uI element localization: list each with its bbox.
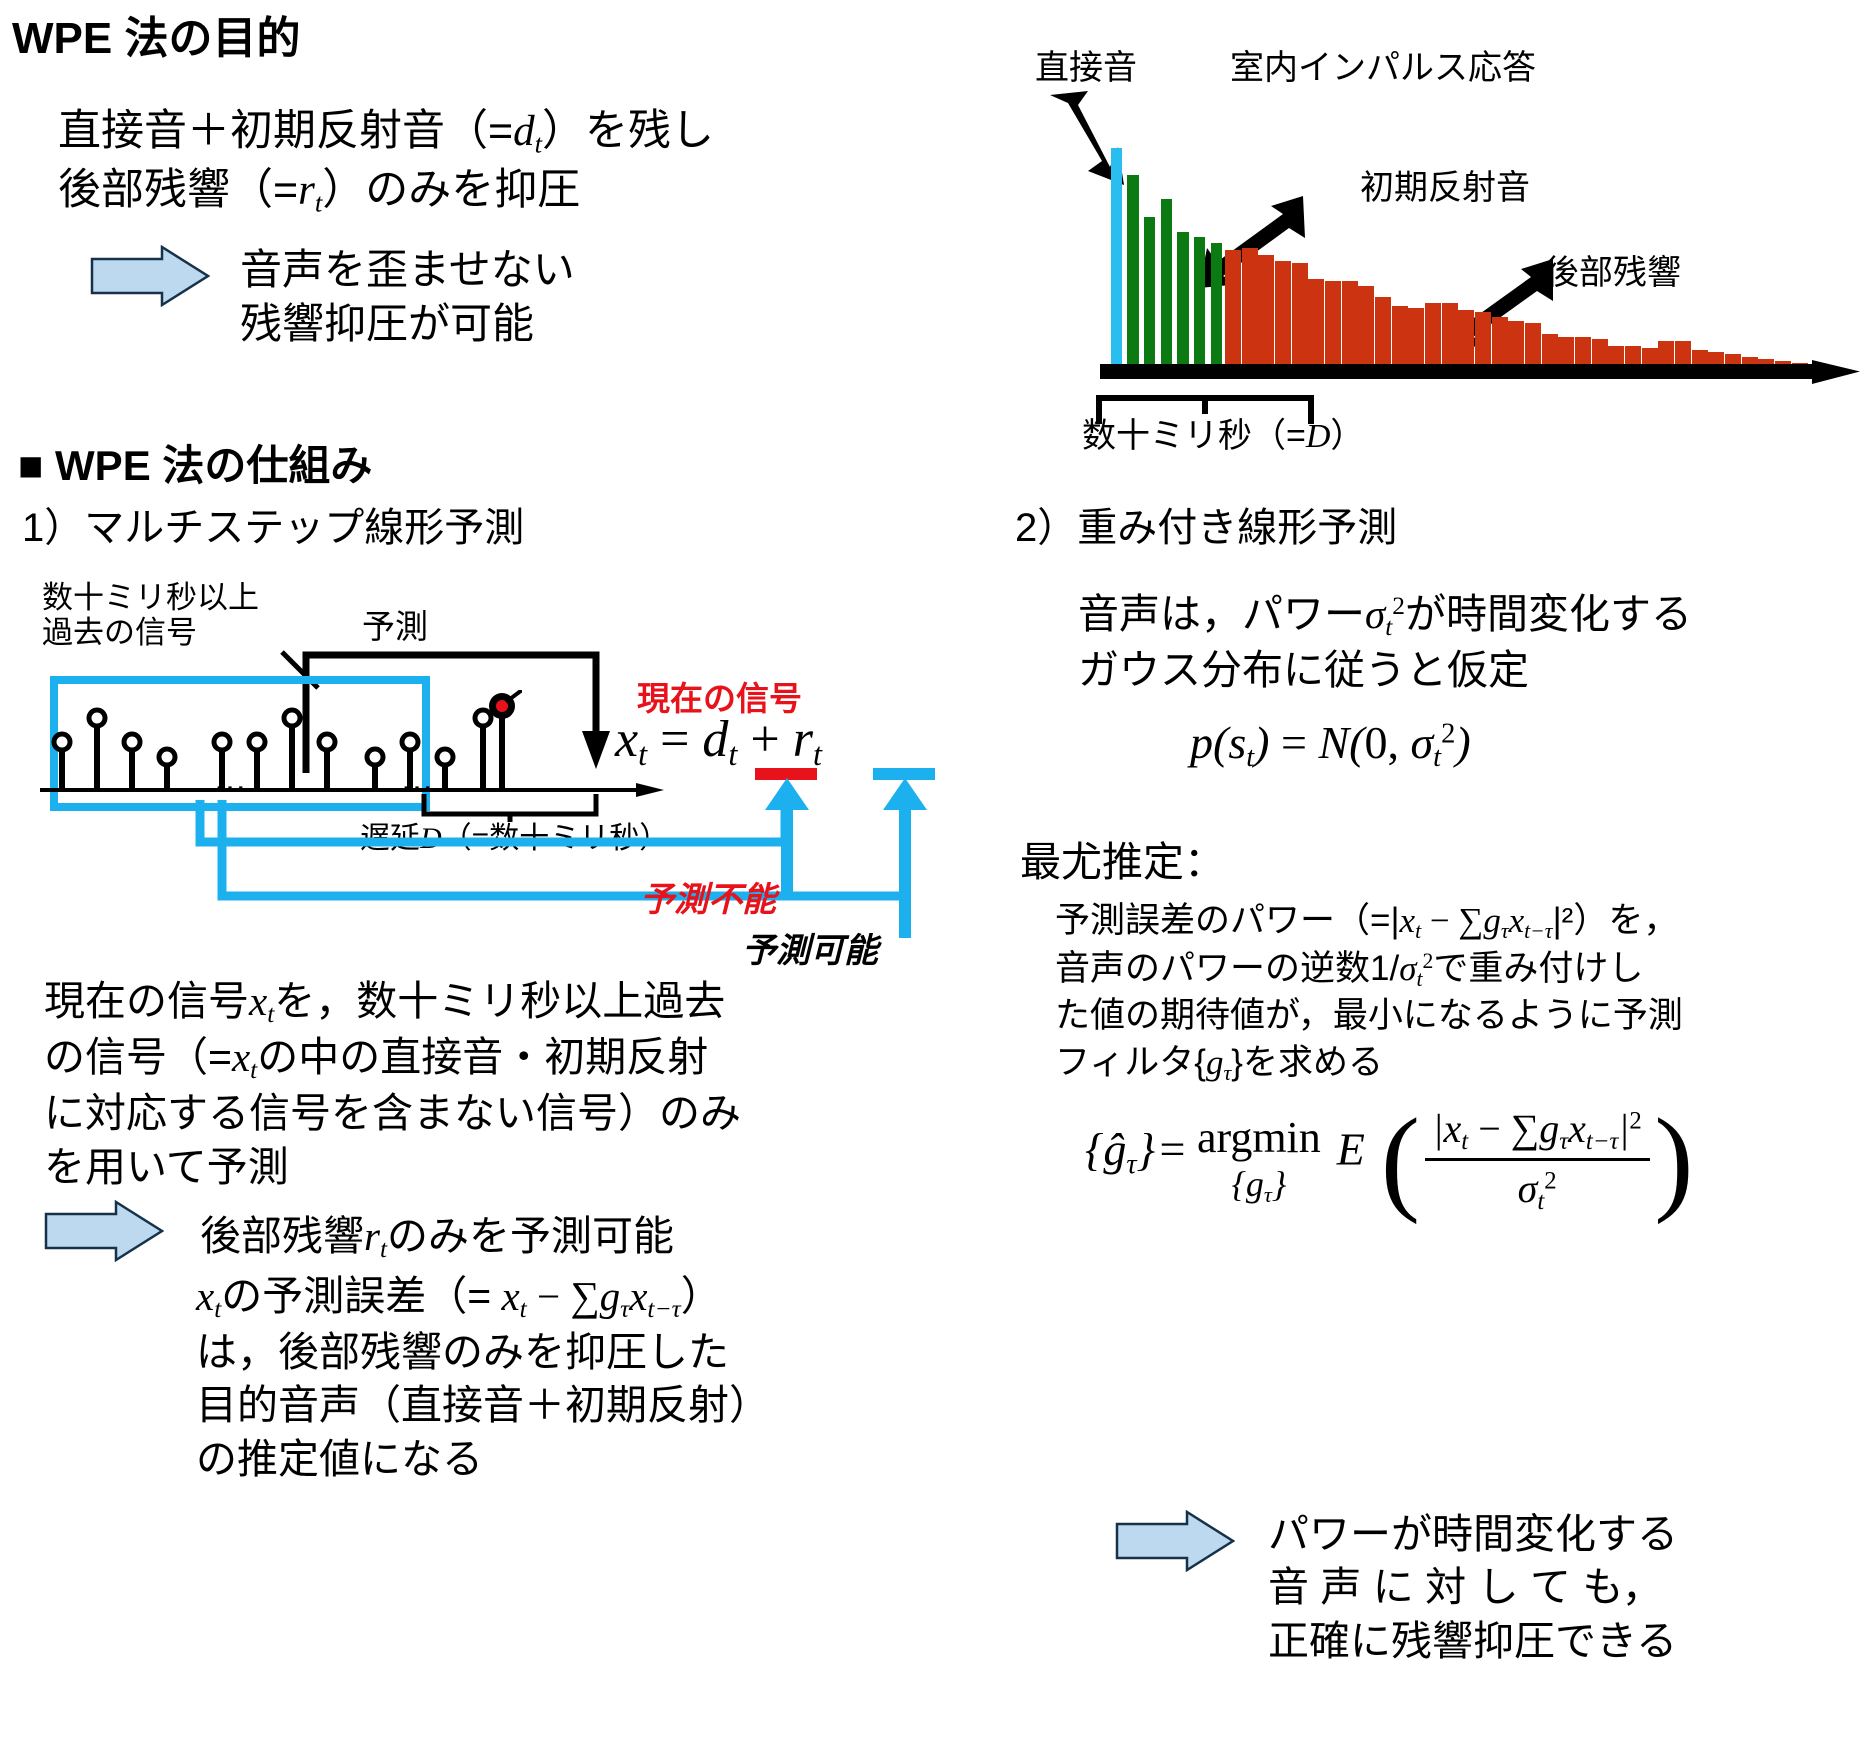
page-title: WPE 法の目的	[12, 2, 300, 66]
stem-head	[402, 734, 418, 750]
stem-label-predictable: 予測可能	[742, 923, 878, 972]
mechanism-heading: ■ WPE 法の仕組み	[18, 432, 372, 493]
purpose-line-2: 後部残響（=rt）のみを抑圧	[58, 155, 580, 218]
label-D-post: ）	[1330, 417, 1364, 455]
purpose-result: 音声を歪ませない 残響抑圧が可能	[240, 243, 575, 351]
impulse-bar	[1144, 217, 1156, 370]
right-para2-line2: 音声のパワーの逆数1/σt2で重み付けし	[1055, 946, 1865, 994]
stem-head	[284, 710, 300, 726]
purpose-line2-post: ）のみを抑圧	[322, 166, 580, 214]
label-D-var: D	[1306, 418, 1331, 455]
step1-heading: 1）マルチステップ線形予測	[22, 495, 524, 553]
purpose-line2-pre: 後部残響（=	[58, 166, 298, 214]
right-arrow-icon-2	[44, 1200, 164, 1262]
impulse-bar	[1275, 261, 1291, 370]
argmin-operator: argmin {gτ}	[1197, 1112, 1321, 1208]
stem-head	[214, 734, 230, 750]
stem-head	[249, 734, 265, 750]
purpose-result-line1: 音声を歪ませない	[240, 243, 575, 297]
right-result-text: パワーが時間変化する 音 声 に 対 し て も， 正確に残響抑圧できる	[1268, 1508, 1678, 1668]
impulse-bar	[1127, 175, 1139, 370]
stem-ellipsis-left: …	[213, 760, 253, 799]
left-para-line4: を用いて予測	[44, 1141, 944, 1194]
chart-label-delay-D: 数十ミリ秒（=D）	[1082, 408, 1364, 457]
eq-d: d	[702, 711, 728, 768]
stem-head	[54, 734, 70, 750]
impulse-bar	[1258, 255, 1274, 370]
purpose-line-1: 直接音＋初期反射音（=dt）を残し	[58, 96, 714, 159]
left-explanation-paragraph-2: xtの予測誤差（= xt − ∑gτxt−τ） は，後部残響のみを抑圧した 目的…	[196, 1270, 976, 1486]
equation-xt-decomposition: xt = dt + rt	[615, 710, 822, 773]
right-arrow-icon	[90, 245, 210, 307]
impulse-bar	[1111, 148, 1123, 370]
right-mle-paragraph: 予測誤差のパワー（=|xt − ∑gτxt−τ|²）を， 音声のパワーの逆数1/…	[1055, 898, 1865, 1087]
left-para2-line1: xtの予測誤差（= xt − ∑gτxt−τ）	[196, 1270, 976, 1326]
mle-heading: 最尤推定：	[1020, 828, 1225, 888]
left-result-text: 後部残響rtのみを予測可能	[200, 1202, 674, 1264]
eq-x: x	[615, 711, 638, 768]
right-arrow-icon-3	[1115, 1510, 1235, 1572]
label-D-pre: 数十ミリ秒（=	[1082, 417, 1306, 455]
step2-heading: 2）重み付き線形予測	[1015, 495, 1397, 553]
impulse-bar	[1242, 248, 1258, 370]
impulse-bar	[1177, 232, 1189, 370]
purpose-line2-var: rt	[298, 167, 322, 214]
stem-label-past-line2: 過去の信号	[42, 607, 197, 652]
right-para2-line4: フィルタ{gτ}を求める	[1055, 1040, 1865, 1088]
left-para2-line4: の推定値になる	[196, 1433, 976, 1486]
right-result-line1: パワーが時間変化する	[1268, 1508, 1678, 1561]
impulse-bar	[1194, 237, 1206, 370]
impulse-bar	[1325, 281, 1341, 370]
purpose-line1-var: dt	[513, 108, 542, 155]
left-para-line2: の信号（=xtの中の直接音・初期反射	[44, 1031, 944, 1087]
stem-head	[367, 749, 383, 765]
right-result-line3: 正確に残響抑圧できる	[1268, 1615, 1678, 1668]
eq-r: r	[793, 711, 813, 768]
left-para-line1: 現在の信号xtを，数十ミリ秒以上過去	[44, 975, 944, 1031]
stem-head	[319, 734, 335, 750]
left-para2-line2: は，後部残響のみを抑圧した	[196, 1326, 976, 1379]
impulse-bar	[1358, 286, 1374, 370]
purpose-line1-pre: 直接音＋初期反射音（=	[58, 107, 513, 155]
right-para1-line1: 音声は，パワーσt2が時間変化する	[1078, 588, 1868, 644]
right-para2-line1: 予測誤差のパワー（=|xt − ∑gτxt−τ|²）を，	[1055, 898, 1865, 946]
left-para-line3: に対応する信号を含まない信号）のみ	[44, 1087, 944, 1140]
chart-title-room-impulse-response: 室内インパルス応答	[1230, 40, 1536, 89]
current-sample-marker	[482, 690, 522, 800]
impulse-bar	[1292, 263, 1308, 370]
impulse-bar	[1308, 279, 1324, 370]
equation-argmin: {ĝτ} = argmin {gτ} E ( |xt − ∑gτxt−τ|2 σ…	[1085, 1105, 1694, 1216]
purpose-result-line2: 残響抑圧が可能	[240, 297, 575, 351]
right-para2-line3: た値の期待値が，最小になるように予測	[1055, 993, 1865, 1039]
stem-head	[124, 734, 140, 750]
stem-head	[89, 710, 105, 726]
left-explanation-paragraph: 現在の信号xtを，数十ミリ秒以上過去 の信号（=xtの中の直接音・初期反射 に対…	[44, 975, 944, 1194]
stem-label-prediction: 予測	[362, 600, 428, 648]
right-para1-line2: ガウス分布に従うと仮定	[1078, 644, 1868, 697]
impulse-bar	[1211, 243, 1223, 370]
equation-gaussian: p(st) = N(0, σt2)	[1190, 716, 1471, 774]
purpose-line1-post: ）を残し	[542, 107, 714, 155]
left-para2-line3: 目的音声（直接音＋初期反射）	[196, 1379, 976, 1432]
impulse-bar	[1342, 281, 1358, 370]
impulse-bar	[1375, 297, 1391, 370]
right-result-line2: 音 声 に 対 し て も，	[1268, 1561, 1678, 1614]
stem-label-unpredictable: 予測不能	[640, 872, 776, 921]
impulse-response-bars	[1108, 148, 1808, 370]
stem-head	[159, 749, 175, 765]
impulse-bar	[1225, 250, 1241, 370]
right-assumption-paragraph: 音声は，パワーσt2が時間変化する ガウス分布に従うと仮定	[1078, 588, 1868, 697]
chart-label-direct-sound: 直接音	[1035, 40, 1137, 89]
impulse-bar	[1161, 199, 1173, 370]
